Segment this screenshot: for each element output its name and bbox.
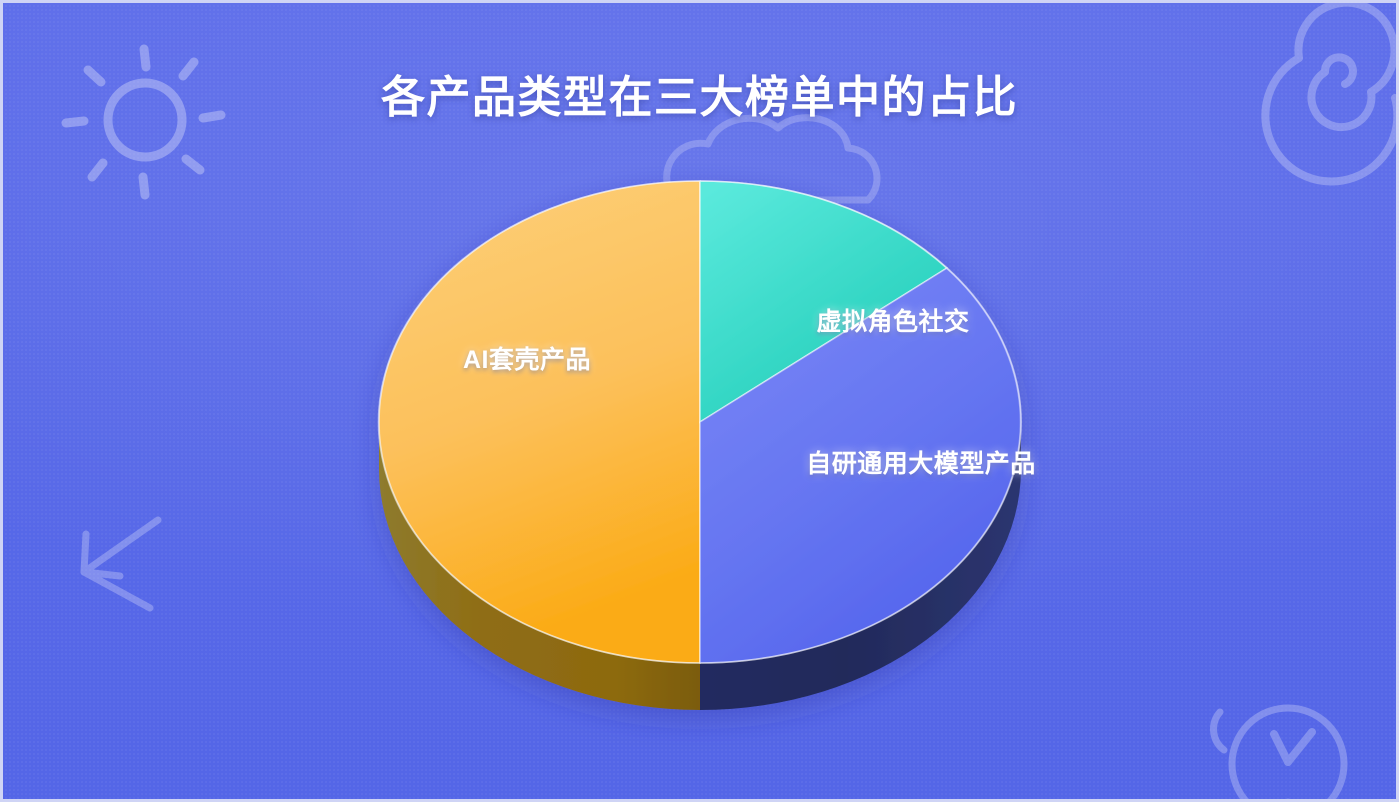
slide-canvas: 各产品类型在三大榜单中的占比: [0, 0, 1399, 802]
chart-title: 各产品类型在三大榜单中的占比: [0, 61, 1399, 125]
slice-label-virtual-character-social: 虚拟角色社交: [816, 302, 969, 338]
slice-label-self-developed-llm: 自研通用大模型产品: [806, 444, 1036, 480]
slice-label-ai-shell: AI套壳产品: [463, 340, 591, 376]
